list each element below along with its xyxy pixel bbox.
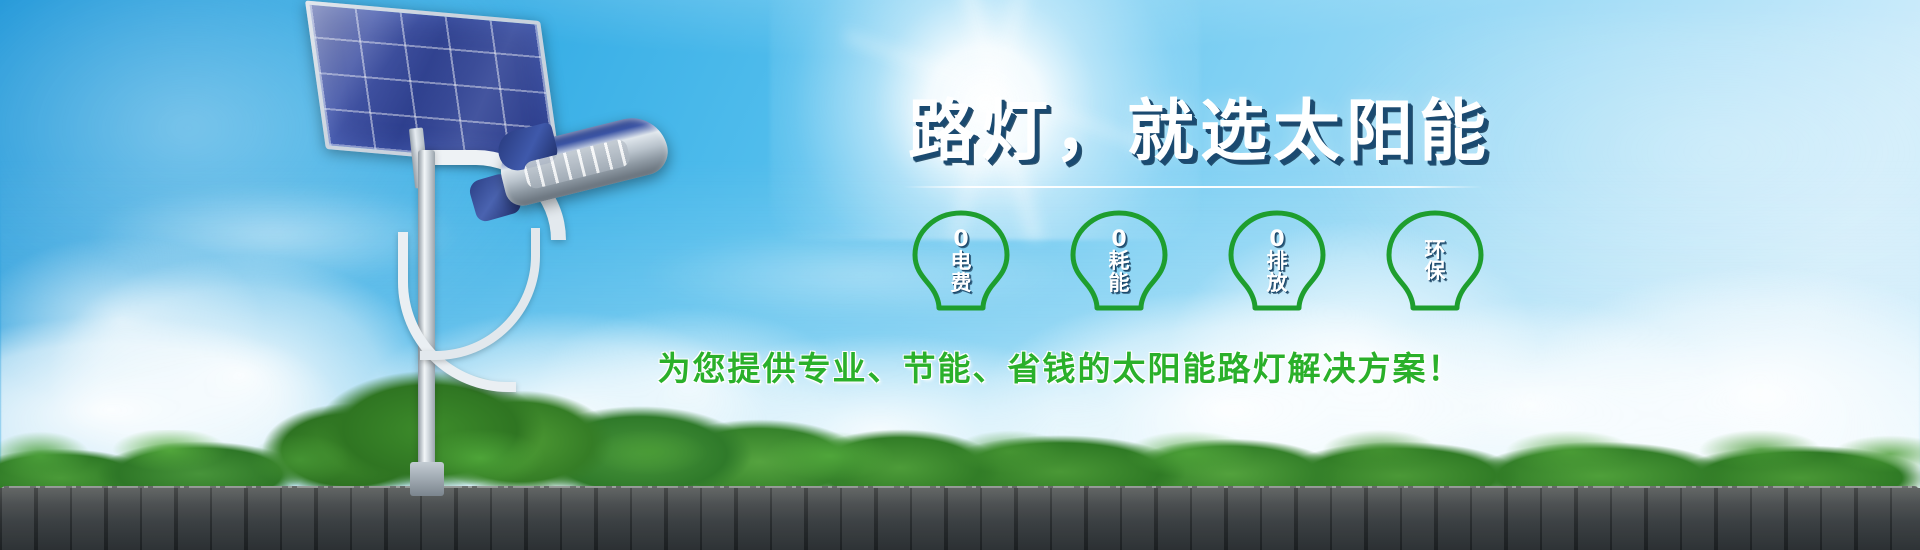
feature-badge-eco: 环 保 xyxy=(1377,208,1493,312)
badge-text-group: 0 耗 能 xyxy=(1061,208,1177,312)
badge-number: 0 xyxy=(1111,228,1126,251)
badge-number: 0 xyxy=(1269,228,1284,251)
badge-label-char-2: 费 xyxy=(951,273,972,294)
feature-badge-0-consumption: 0 耗 能 xyxy=(1061,208,1177,312)
badge-text-group: 环 保 xyxy=(1377,208,1493,312)
page-title: 路灯，就选太阳能 xyxy=(880,98,1520,165)
feature-badge-0-electricity: 0 电 费 xyxy=(903,208,1019,312)
badge-label-char-1: 电 xyxy=(951,251,972,272)
badge-label: 耗 能 xyxy=(1109,251,1130,294)
badge-label: 排 放 xyxy=(1267,251,1288,294)
solar-street-light-banner: 路灯，就选太阳能 0 电 费 xyxy=(0,0,1920,550)
badge-label: 电 费 xyxy=(951,251,972,294)
badge-label-char-1: 排 xyxy=(1267,251,1288,272)
badge-label: 环 保 xyxy=(1425,240,1446,283)
badge-number: 0 xyxy=(953,228,968,251)
feature-badge-list: 0 电 费 0 耗 能 xyxy=(903,208,1493,312)
badge-text-group: 0 排 放 xyxy=(1219,208,1335,312)
badge-label-char-2: 保 xyxy=(1425,261,1446,282)
banner-tagline: 为您提供专业、节能、省钱的太阳能路灯解决方案！ xyxy=(560,352,1560,385)
headline-divider xyxy=(903,186,1483,188)
badge-label-char-1: 环 xyxy=(1425,240,1446,261)
badge-label-char-1: 耗 xyxy=(1109,251,1130,272)
banner-copy: 路灯，就选太阳能 0 电 费 xyxy=(0,0,1920,550)
feature-badge-0-emission: 0 排 放 xyxy=(1219,208,1335,312)
badge-label-char-2: 能 xyxy=(1109,273,1130,294)
badge-label-char-2: 放 xyxy=(1267,273,1288,294)
badge-text-group: 0 电 费 xyxy=(903,208,1019,312)
